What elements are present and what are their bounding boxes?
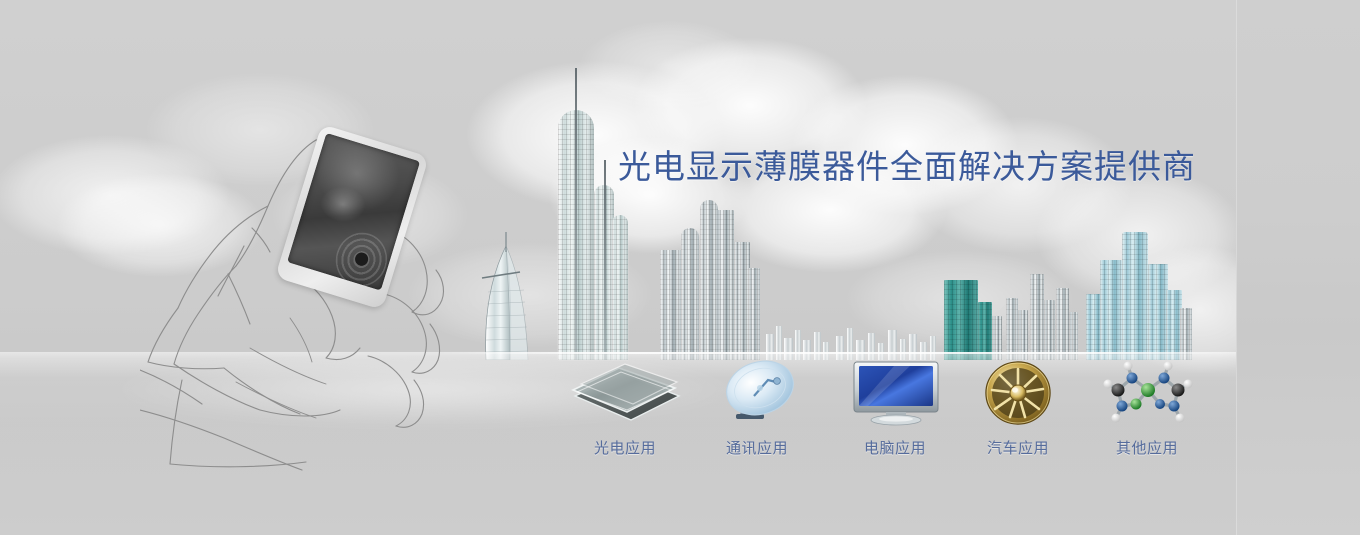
skyscraper (1030, 274, 1044, 360)
panel-seam (1236, 0, 1237, 535)
caption-communication: 通讯应用 (726, 437, 788, 458)
horizon-line (440, 352, 1236, 354)
skyscraper (1148, 264, 1168, 360)
skyscraper (944, 280, 978, 360)
glass-film-sheets-icon (567, 362, 683, 424)
alloy-wheel-icon (982, 359, 1054, 427)
caption-computer: 电脑应用 (864, 437, 926, 458)
page-title: 光电显示薄膜器件全面解决方案提供商 (618, 140, 1196, 188)
skyscraper (748, 268, 760, 360)
caption-automotive: 汽车应用 (987, 437, 1049, 458)
computer-monitor-icon (848, 358, 944, 426)
sail-tower (476, 232, 538, 360)
skyscraper (660, 250, 682, 360)
skyscraper (700, 200, 718, 360)
skyscraper (1122, 232, 1148, 360)
skyscraper (612, 215, 628, 360)
skyscraper (681, 228, 699, 360)
screen-highlight (319, 185, 367, 224)
tower-spire (604, 160, 606, 360)
molecule-model-icon (1102, 360, 1194, 424)
banner-stage: 光电显示薄膜器件全面解决方案提供商 光电应用 通讯应用 电脑应用 汽车应用 其他… (0, 0, 1360, 535)
skyscraper (1056, 288, 1069, 360)
caption-optoelectronics: 光电应用 (594, 437, 656, 458)
skyscraper (1100, 260, 1122, 360)
satellite-dish-icon (710, 358, 806, 426)
skyscraper (1006, 298, 1018, 360)
tower-spire (575, 68, 577, 360)
skyscraper (1044, 300, 1055, 360)
screen-ripple (329, 226, 394, 291)
caption-other: 其他应用 (1116, 437, 1178, 458)
